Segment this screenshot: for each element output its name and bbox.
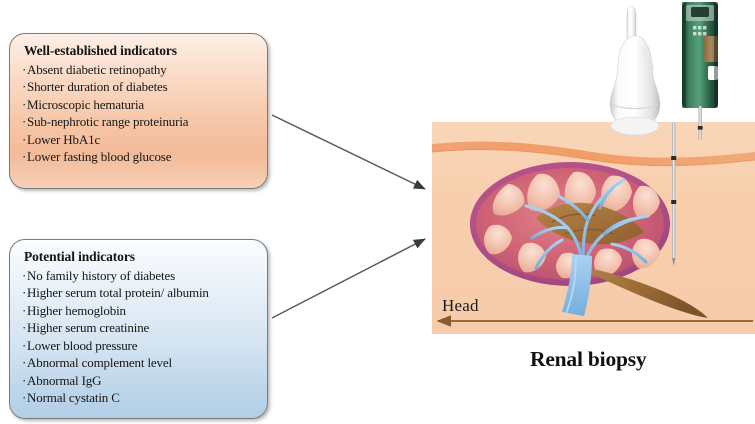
- list-item: ·Abnormal IgG: [22, 372, 257, 389]
- list-item: ·Absent diabetic retinopathy: [22, 61, 257, 78]
- list-item: ·Lower HbA1c: [22, 131, 257, 148]
- potential-indicators-box: Potential indicators ·No family history …: [9, 239, 268, 419]
- list-item-label: Normal cystatin C: [27, 390, 120, 405]
- figure-caption: Renal biopsy: [530, 347, 646, 372]
- list-item: ·Abnormal complement level: [22, 354, 257, 371]
- list-item: ·Higher serum creatinine: [22, 319, 257, 336]
- list-item-label: Higher hemoglobin: [27, 303, 126, 318]
- list-item-label: Higher serum creatinine: [27, 320, 149, 335]
- potential-title: Potential indicators: [24, 248, 257, 266]
- connector-well-established: [272, 115, 425, 189]
- list-item: ·Lower blood pressure: [22, 337, 257, 354]
- list-item-label: Lower fasting blood glucose: [27, 149, 171, 164]
- ultrasound-probe-icon: [610, 6, 660, 135]
- list-item: ·Microscopic hematuria: [22, 96, 257, 113]
- orientation-arrow: [432, 296, 755, 336]
- list-item-label: Lower HbA1c: [27, 132, 100, 147]
- instruments: [598, 0, 738, 140]
- list-item: ·No family history of diabetes: [22, 267, 257, 284]
- list-item-label: No family history of diabetes: [27, 268, 175, 283]
- list-item-label: Lower blood pressure: [27, 338, 137, 353]
- list-item: ·Higher hemoglobin: [22, 302, 257, 319]
- list-item-label: Sub-nephrotic range proteinuria: [27, 114, 188, 129]
- well-established-list: ·Absent diabetic retinopathy ·Shorter du…: [22, 61, 257, 166]
- head-orientation-label: Head: [442, 296, 479, 316]
- list-item: ·Normal cystatin C: [22, 389, 257, 406]
- well-established-title: Well-established indicators: [24, 42, 257, 60]
- list-item-label: Higher serum total protein/ albumin: [27, 285, 209, 300]
- list-item-label: Shorter duration of diabetes: [27, 79, 168, 94]
- biopsy-gun-icon: [682, 2, 718, 140]
- list-item-label: Absent diabetic retinopathy: [27, 62, 167, 77]
- well-established-indicators-box: Well-established indicators ·Absent diab…: [9, 33, 268, 189]
- list-item-label: Microscopic hematuria: [27, 97, 144, 112]
- renal-biopsy-figure: Well-established indicators ·Absent diab…: [0, 0, 755, 424]
- list-item-label: Abnormal complement level: [27, 355, 172, 370]
- list-item: ·Sub-nephrotic range proteinuria: [22, 113, 257, 130]
- list-item: ·Shorter duration of diabetes: [22, 78, 257, 95]
- list-item-label: Abnormal IgG: [27, 373, 101, 388]
- potential-list: ·No family history of diabetes ·Higher s…: [22, 267, 257, 407]
- list-item: ·Lower fasting blood glucose: [22, 148, 257, 165]
- connector-potential: [272, 239, 425, 318]
- list-item: ·Higher serum total protein/ albumin: [22, 284, 257, 301]
